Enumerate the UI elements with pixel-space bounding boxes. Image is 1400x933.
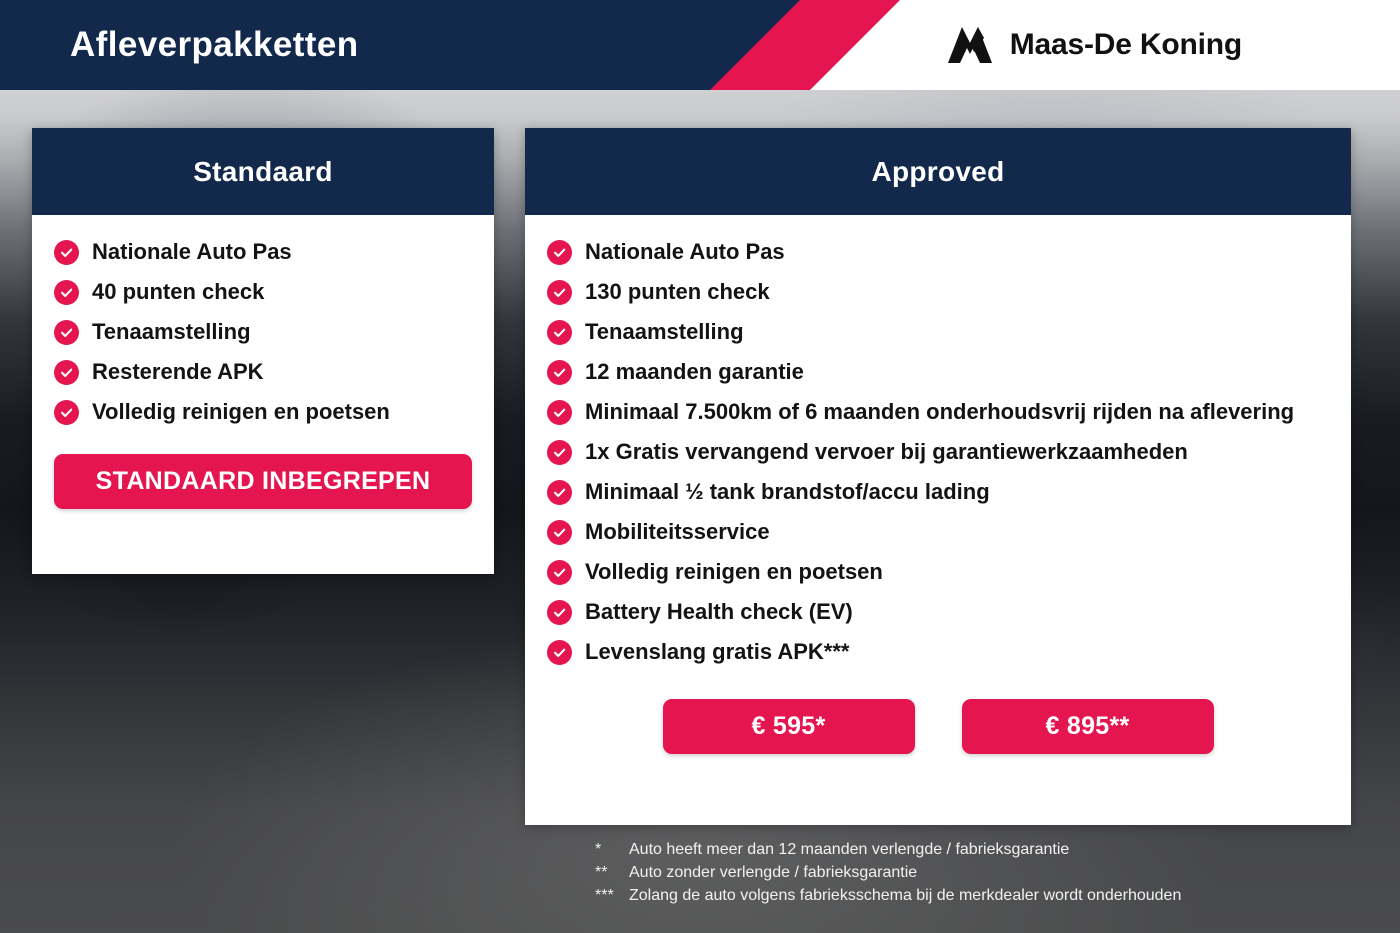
feature-item: Volledig reinigen en poetsen <box>547 552 1329 592</box>
footnote-text: Zolang de auto volgens fabrieksschema bi… <box>629 884 1355 907</box>
feature-item: Mobiliteitsservice <box>547 512 1329 552</box>
package-card-approved: Approved Nationale Auto Pas130 punten ch… <box>525 128 1351 825</box>
standaard-inbegrepen-button[interactable]: STANDAARD INBEGREPEN <box>54 454 472 509</box>
feature-label: Minimaal ½ tank brandstof/accu lading <box>585 472 1329 512</box>
footnote-marker: * <box>595 838 629 861</box>
feature-label: Volledig reinigen en poetsen <box>92 392 472 432</box>
feature-item: Battery Health check (EV) <box>547 592 1329 632</box>
feature-item: 40 punten check <box>54 272 472 312</box>
check-circle-icon <box>547 320 572 345</box>
feature-label: Mobiliteitsservice <box>585 512 1329 552</box>
maas-de-koning-m-logo-icon <box>946 25 994 65</box>
check-circle-icon <box>547 640 572 665</box>
feature-item: Minimaal 7.500km of 6 maanden onderhouds… <box>547 392 1329 432</box>
feature-label: Levenslang gratis APK*** <box>585 632 1329 672</box>
page-title: Afleverpakketten <box>70 0 358 90</box>
feature-label: Volledig reinigen en poetsen <box>585 552 1329 592</box>
check-circle-icon <box>547 480 572 505</box>
feature-label: Nationale Auto Pas <box>585 232 1329 272</box>
check-circle-icon <box>54 240 79 265</box>
page-root: Afleverpakketten Maas-De Koning Standaar… <box>0 0 1400 933</box>
feature-label: 12 maanden garantie <box>585 352 1329 392</box>
footnotes: *Auto heeft meer dan 12 maanden verlengd… <box>595 838 1355 907</box>
feature-item: 12 maanden garantie <box>547 352 1329 392</box>
feature-list-standaard: Nationale Auto Pas40 punten checkTenaams… <box>54 215 472 432</box>
check-circle-icon <box>547 520 572 545</box>
card-body-standaard: Nationale Auto Pas40 punten checkTenaams… <box>32 215 494 509</box>
check-circle-icon <box>547 280 572 305</box>
feature-item: Levenslang gratis APK*** <box>547 632 1329 672</box>
price-button[interactable]: € 895** <box>962 699 1214 754</box>
check-circle-icon <box>547 240 572 265</box>
check-circle-icon <box>547 400 572 425</box>
feature-item: Nationale Auto Pas <box>547 232 1329 272</box>
feature-item: Tenaamstelling <box>547 312 1329 352</box>
check-circle-icon <box>547 560 572 585</box>
feature-item: 130 punten check <box>547 272 1329 312</box>
feature-list-approved: Nationale Auto Pas130 punten checkTenaam… <box>547 215 1329 672</box>
brand-name: Maas-De Koning <box>1010 28 1242 62</box>
feature-item: Nationale Auto Pas <box>54 232 472 272</box>
brand-logo: Maas-De Koning <box>946 0 1242 90</box>
feature-item: Minimaal ½ tank brandstof/accu lading <box>547 472 1329 512</box>
feature-label: 40 punten check <box>92 272 472 312</box>
footnote-row: **Auto zonder verlengde / fabrieksgarant… <box>595 861 1355 884</box>
check-circle-icon <box>54 280 79 305</box>
card-body-approved: Nationale Auto Pas130 punten checkTenaam… <box>525 215 1351 754</box>
check-circle-icon <box>547 440 572 465</box>
check-circle-icon <box>547 360 572 385</box>
feature-label: 1x Gratis vervangend vervoer bij garanti… <box>585 432 1329 472</box>
feature-item: Tenaamstelling <box>54 312 472 352</box>
price-button-row: € 595*€ 895** <box>547 699 1329 754</box>
feature-label: Tenaamstelling <box>92 312 472 352</box>
package-card-standaard: Standaard Nationale Auto Pas40 punten ch… <box>32 128 494 574</box>
footnote-row: *Auto heeft meer dan 12 maanden verlengd… <box>595 838 1355 861</box>
page-header: Afleverpakketten Maas-De Koning <box>0 0 1400 90</box>
card-title-approved: Approved <box>525 128 1351 215</box>
feature-item: Volledig reinigen en poetsen <box>54 392 472 432</box>
feature-label: 130 punten check <box>585 272 1329 312</box>
footnote-marker: *** <box>595 884 629 907</box>
footnote-text: Auto zonder verlengde / fabrieksgarantie <box>629 861 1355 884</box>
card-title-standaard: Standaard <box>32 128 494 215</box>
feature-label: Battery Health check (EV) <box>585 592 1329 632</box>
footnote-marker: ** <box>595 861 629 884</box>
check-circle-icon <box>54 400 79 425</box>
feature-label: Resterende APK <box>92 352 472 392</box>
feature-label: Tenaamstelling <box>585 312 1329 352</box>
footnote-text: Auto heeft meer dan 12 maanden verlengde… <box>629 838 1355 861</box>
check-circle-icon <box>547 600 572 625</box>
feature-item: Resterende APK <box>54 352 472 392</box>
check-circle-icon <box>54 320 79 345</box>
check-circle-icon <box>54 360 79 385</box>
feature-label: Nationale Auto Pas <box>92 232 472 272</box>
feature-label: Minimaal 7.500km of 6 maanden onderhouds… <box>585 392 1329 432</box>
footnote-row: ***Zolang de auto volgens fabrieksschema… <box>595 884 1355 907</box>
feature-item: 1x Gratis vervangend vervoer bij garanti… <box>547 432 1329 472</box>
price-button[interactable]: € 595* <box>663 699 915 754</box>
